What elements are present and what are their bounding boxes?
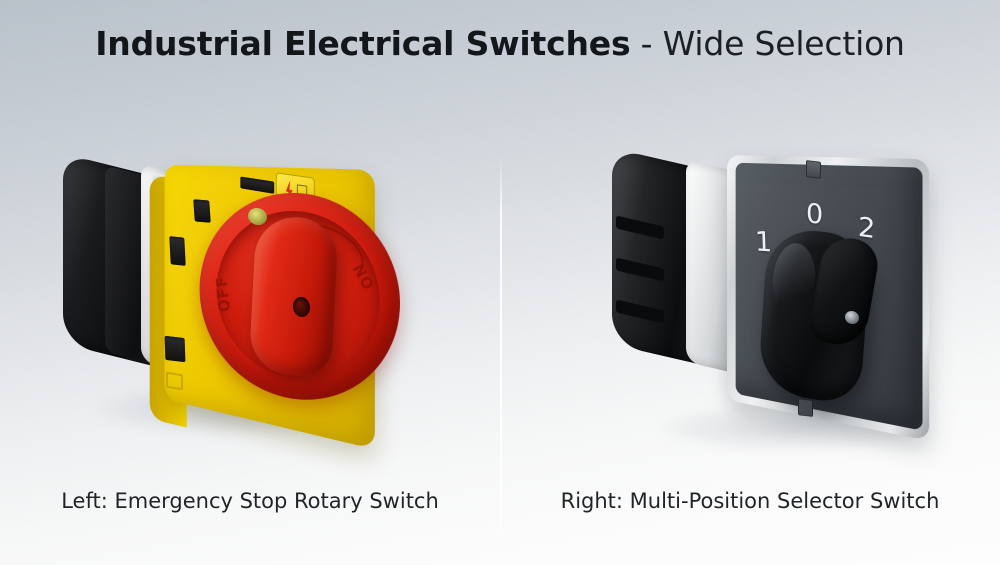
- page-title-light: - Wide Selection: [630, 24, 904, 63]
- caption-right: Right: Multi-Position Selector Switch: [500, 489, 1000, 513]
- page-title: Industrial Electrical Switches - Wide Se…: [0, 24, 1000, 63]
- page-title-strong: Industrial Electrical Switches: [95, 24, 630, 63]
- faceplate-tab-top: [806, 160, 821, 179]
- position-label-1: 1: [754, 226, 772, 258]
- vent-slot: [193, 199, 210, 223]
- product-image-multi-position-selector-switch: 1 0 2: [610, 145, 940, 455]
- caption-left: Left: Emergency Stop Rotary Switch: [0, 489, 500, 513]
- knob-label-off: OFF: [212, 275, 234, 313]
- faceplate-marking: [166, 372, 183, 391]
- rotary-knob-handle-red[interactable]: [249, 214, 339, 380]
- position-label-0: 0: [806, 198, 823, 231]
- slide-canvas: Industrial Electrical Switches - Wide Se…: [0, 0, 1000, 565]
- product-image-emergency-stop-rotary-switch: OFF ON: [55, 145, 415, 455]
- vent-slot: [165, 336, 186, 363]
- faceplate-tab-bottom: [798, 398, 813, 417]
- knob-screw: [845, 311, 859, 325]
- vent-slot: [169, 236, 185, 266]
- knob-screw: [248, 207, 267, 225]
- padlock-hole: [293, 296, 310, 317]
